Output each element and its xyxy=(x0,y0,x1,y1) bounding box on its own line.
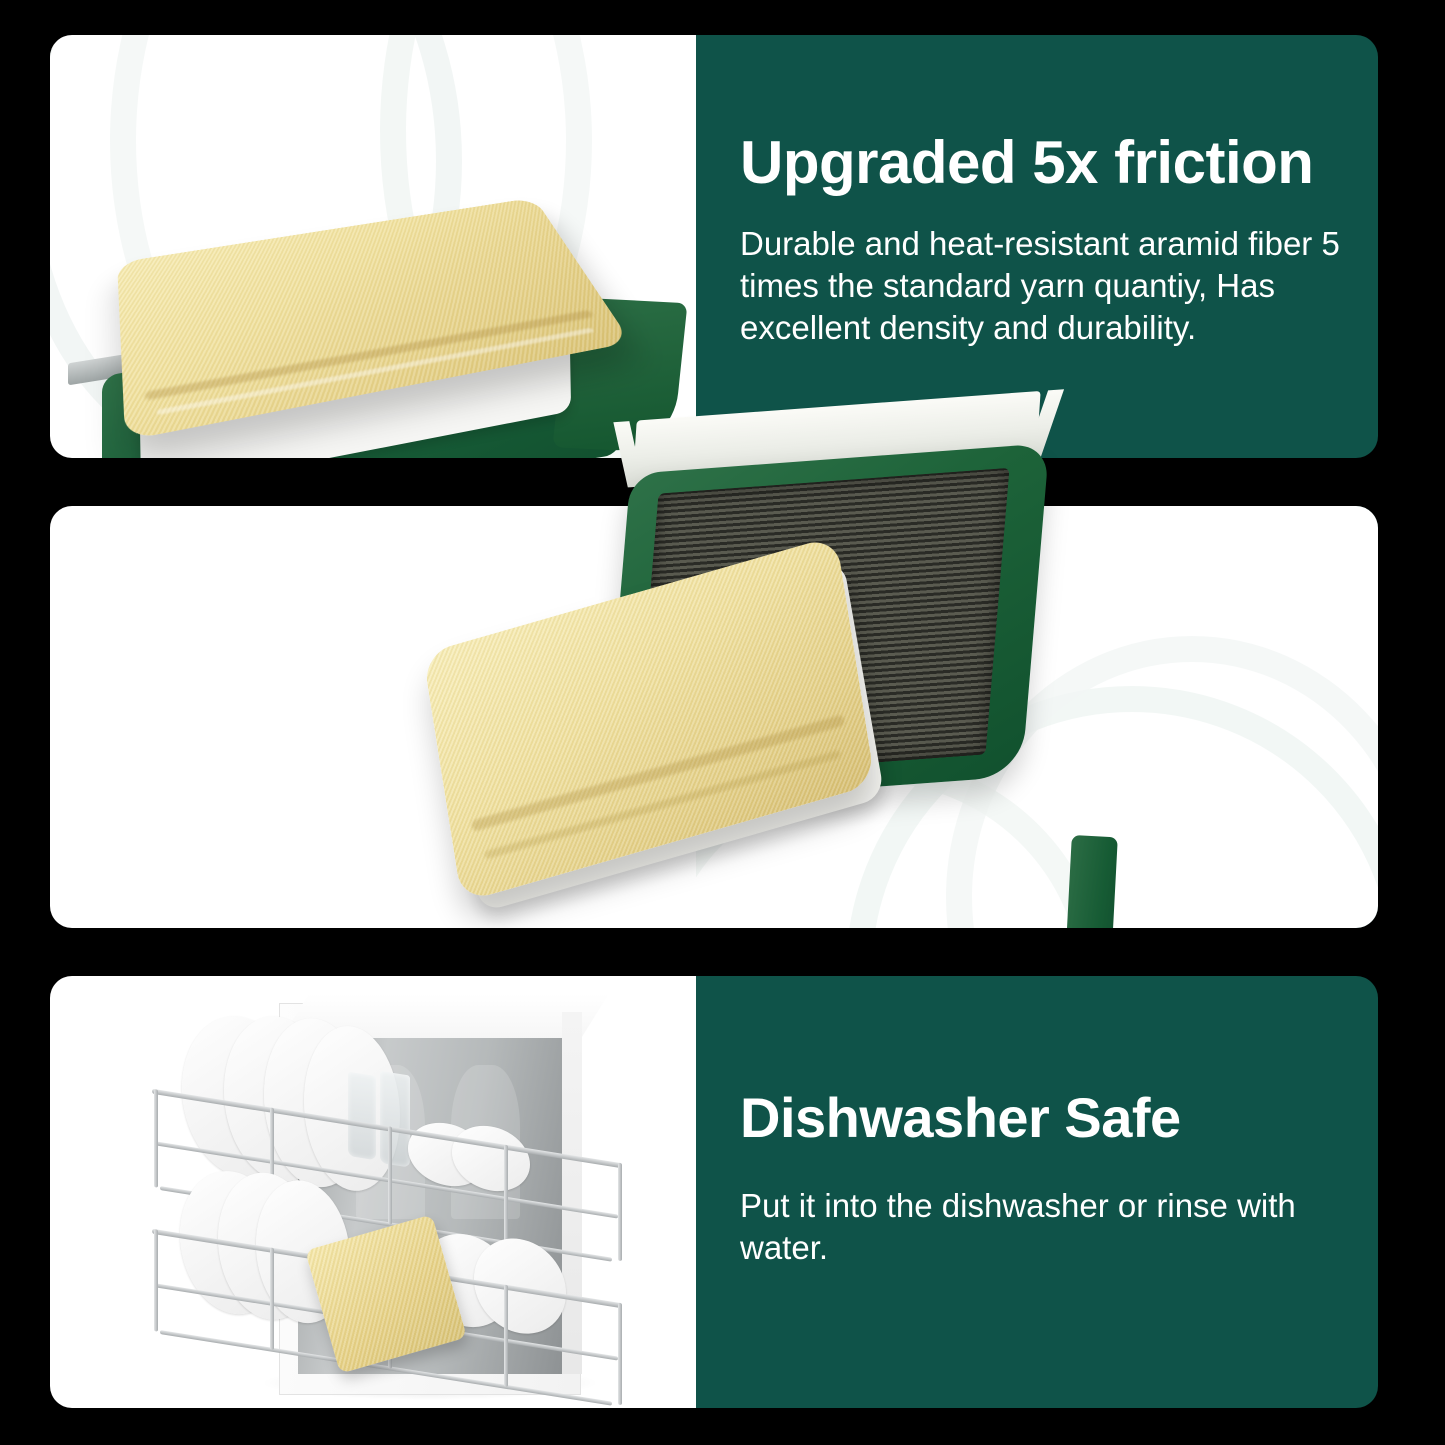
infographic-canvas: Upgraded 5x friction Durable and heat-re… xyxy=(0,0,1445,1445)
dishwasher-illustration xyxy=(170,994,690,1406)
brush-head-exploded-illustration xyxy=(446,398,1146,1038)
panel-3-text-block: Dishwasher Safe Put it into the dishwash… xyxy=(740,1088,1360,1269)
feature-panel-replace-brush-heads: Easily replace brush heads Easily remova… xyxy=(50,506,1378,928)
panel-1-body: Durable and heat-resistant aramid fiber … xyxy=(740,223,1360,349)
panel-1-text-block: Upgraded 5x friction Durable and heat-re… xyxy=(740,131,1360,349)
feature-panel-upgraded-friction: Upgraded 5x friction Durable and heat-re… xyxy=(50,35,1378,458)
panel-1-title: Upgraded 5x friction xyxy=(740,131,1360,195)
panel-2-image xyxy=(696,506,1378,928)
panel-3-image xyxy=(50,976,696,1408)
panel-3-title: Dishwasher Safe xyxy=(740,1088,1360,1147)
panel-1-image xyxy=(50,35,696,458)
panel-3-body: Put it into the dishwasher or rinse with… xyxy=(740,1185,1360,1269)
panel-3-text: Dishwasher Safe Put it into the dishwash… xyxy=(696,976,1378,1408)
yellow-aramid-pad-detached xyxy=(423,535,876,902)
feature-panel-dishwasher-safe: Dishwasher Safe Put it into the dishwash… xyxy=(50,976,1378,1408)
